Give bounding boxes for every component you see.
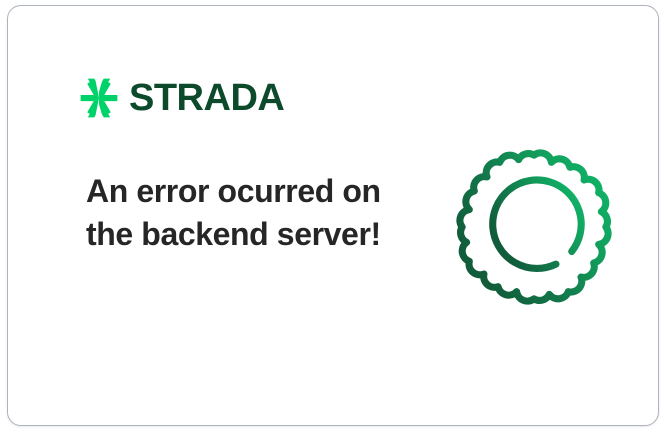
error-screen: STRADA An error ocurred on the backend s… xyxy=(0,0,666,436)
gear-cog-icon xyxy=(455,148,613,306)
strada-asterisk-icon xyxy=(78,77,120,119)
brand-wordmark: STRADA xyxy=(129,79,284,117)
error-headline: An error ocurred on the backend server! xyxy=(86,170,386,256)
brand-lockup: STRADA xyxy=(78,72,284,124)
error-card: STRADA An error ocurred on the backend s… xyxy=(7,5,659,426)
